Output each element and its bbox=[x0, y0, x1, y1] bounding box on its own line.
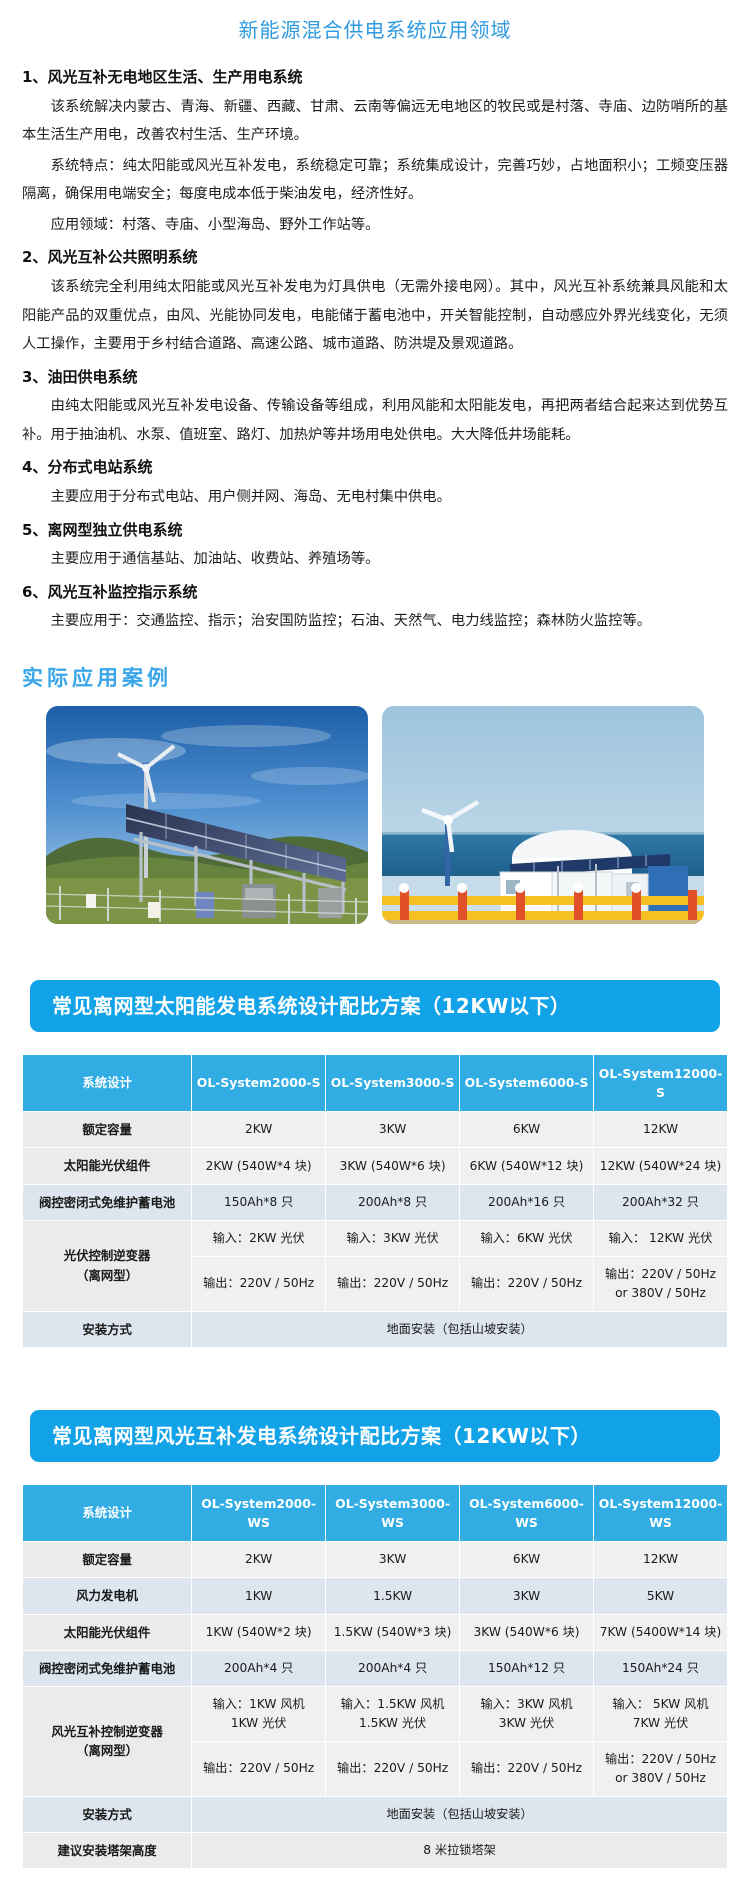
table1-header-row: 系统设计 OL-System2000-S OL-System3000-S OL-… bbox=[23, 1054, 728, 1111]
section-title-4: 分布式电站系统 bbox=[47, 458, 152, 476]
table1-row0-val1: 3KW bbox=[326, 1112, 460, 1148]
case-photo-gallery bbox=[0, 706, 750, 924]
section-5-paragraph-1: 主要应用于通信基站、加油站、收费站、养殖场等。 bbox=[22, 545, 728, 574]
table1-inverter-input-2: 输入：6KW 光伏 bbox=[460, 1220, 594, 1256]
table2-tower-value: 8 米拉锁塔架 bbox=[192, 1832, 728, 1868]
table2-head: 系统设计 OL-System2000-WS OL-System3000-WS O… bbox=[23, 1484, 728, 1541]
table1-row0-val0: 2KW bbox=[192, 1112, 326, 1148]
case-section-title: 实际应用案例 bbox=[0, 662, 750, 692]
article-body: 1、风光互补无电地区生活、生产用电系统 该系统解决内蒙古、青海、新疆、西藏、甘肃… bbox=[0, 66, 750, 636]
table1-header-cell-1: OL-System2000-S bbox=[192, 1054, 326, 1111]
table-row: 风力发电机 1KW 1.5KW 3KW 5KW bbox=[23, 1578, 728, 1614]
table1-install-value: 地面安装（包括山坡安装） bbox=[192, 1311, 728, 1347]
table2-row0-val3: 12KW bbox=[594, 1542, 728, 1578]
section-heading-6: 6、风光互补监控指示系统 bbox=[22, 581, 728, 604]
table2-row0-val0: 2KW bbox=[192, 1542, 326, 1578]
table2-row3-label: 阀控密闭式免维护蓄电池 bbox=[23, 1650, 192, 1686]
table-row: 太阳能光伏组件 1KW (540W*2 块) 1.5KW (540W*3 块) … bbox=[23, 1614, 728, 1650]
section-heading-2: 2、风光互补公共照明系统 bbox=[22, 246, 728, 269]
section-4-paragraph-1: 主要应用于分布式电站、用户侧并网、海岛、无电村集中供电。 bbox=[22, 483, 728, 512]
table1-header-cell-0: 系统设计 bbox=[23, 1054, 192, 1111]
table2-inverter-input-3: 输入： 5KW 风机 7KW 光伏 bbox=[594, 1687, 728, 1742]
section-title-5: 离网型独立供电系统 bbox=[47, 521, 182, 539]
table1-row2-val2: 200Ah*16 只 bbox=[460, 1184, 594, 1220]
table1-install-label: 安装方式 bbox=[23, 1311, 192, 1347]
table-row: 安装方式 地面安装（包括山坡安装） bbox=[23, 1796, 728, 1832]
table2-row2-label: 太阳能光伏组件 bbox=[23, 1614, 192, 1650]
table1-row0-label: 额定容量 bbox=[23, 1112, 192, 1148]
table1-head: 系统设计 OL-System2000-S OL-System3000-S OL-… bbox=[23, 1054, 728, 1111]
table1-banner-wrap: 常见离网型太阳能发电系统设计配比方案（12KW以下） bbox=[0, 980, 750, 1032]
table-row: 额定容量 2KW 3KW 6KW 12KW bbox=[23, 1112, 728, 1148]
table2-row3-val1: 200Ah*4 只 bbox=[326, 1650, 460, 1686]
section-title-2: 风光互补公共照明系统 bbox=[47, 248, 197, 266]
table1-row2-val0: 150Ah*8 只 bbox=[192, 1184, 326, 1220]
table2-row0-val1: 3KW bbox=[326, 1542, 460, 1578]
table-row: 风光互补控制逆变器 （离网型） 输入：1KW 风机 1KW 光伏 输入：1.5K… bbox=[23, 1687, 728, 1742]
seaside-station-illustration bbox=[382, 706, 704, 924]
section-1-paragraph-1: 该系统解决内蒙古、青海、新疆、西藏、甘肃、云南等偏远无电地区的牧民或是村落、寺庙… bbox=[22, 93, 728, 150]
table2-wrap: 系统设计 OL-System2000-WS OL-System3000-WS O… bbox=[0, 1484, 750, 1869]
section-number-1: 1、 bbox=[22, 68, 47, 86]
table1-row0-val3: 12KW bbox=[594, 1112, 728, 1148]
table2-inverter-output-1: 输出：220V / 50Hz bbox=[326, 1741, 460, 1796]
table2-row0-label: 额定容量 bbox=[23, 1542, 192, 1578]
table-row: 额定容量 2KW 3KW 6KW 12KW bbox=[23, 1542, 728, 1578]
table2-header-cell-1: OL-System2000-WS bbox=[192, 1484, 326, 1541]
table2-row2-val2: 3KW (540W*6 块) bbox=[460, 1614, 594, 1650]
section-heading-1: 1、风光互补无电地区生活、生产用电系统 bbox=[22, 66, 728, 89]
section-heading-3: 3、油田供电系统 bbox=[22, 366, 728, 389]
table-row: 建议安装塔架高度 8 米拉锁塔架 bbox=[23, 1832, 728, 1868]
table1-row0-val2: 6KW bbox=[460, 1112, 594, 1148]
section-6-paragraph-1: 主要应用于：交通监控、指示；治安国防监控；石油、天然气、电力线监控；森林防火监控… bbox=[22, 607, 728, 636]
table2-inverter-label: 风光互补控制逆变器 （离网型） bbox=[23, 1687, 192, 1797]
table2-tower-label: 建议安装塔架高度 bbox=[23, 1832, 192, 1868]
table2-body: 额定容量 2KW 3KW 6KW 12KW 风力发电机 1KW 1.5KW 3K… bbox=[23, 1542, 728, 1869]
table1-row2-val1: 200Ah*8 只 bbox=[326, 1184, 460, 1220]
page-title: 新能源混合供电系统应用领域 bbox=[0, 0, 750, 59]
table2-header-cell-4: OL-System12000-WS bbox=[594, 1484, 728, 1541]
table2-inverter-input-0: 输入：1KW 风机 1KW 光伏 bbox=[192, 1687, 326, 1742]
table2-row3-val3: 150Ah*24 只 bbox=[594, 1650, 728, 1686]
table1-row1-val3: 12KW (540W*24 块) bbox=[594, 1148, 728, 1184]
table1-row1-label: 太阳能光伏组件 bbox=[23, 1148, 192, 1184]
table1-banner: 常见离网型太阳能发电系统设计配比方案（12KW以下） bbox=[30, 980, 720, 1032]
table2-banner: 常见离网型风光互补发电系统设计配比方案（12KW以下） bbox=[30, 1410, 720, 1462]
table2-inverter-input-2: 输入：3KW 风机 3KW 光伏 bbox=[460, 1687, 594, 1742]
table1-inverter-input-0: 输入：2KW 光伏 bbox=[192, 1220, 326, 1256]
table2-row3-val2: 150Ah*12 只 bbox=[460, 1650, 594, 1686]
table1-header-cell-3: OL-System6000-S bbox=[460, 1054, 594, 1111]
table1-inverter-output-2: 输出：220V / 50Hz bbox=[460, 1256, 594, 1311]
table-row: 阀控密闭式免维护蓄电池 150Ah*8 只 200Ah*8 只 200Ah*16… bbox=[23, 1184, 728, 1220]
table1-inverter-label-line2: （离网型） bbox=[26, 1266, 188, 1285]
table2-header-row: 系统设计 OL-System2000-WS OL-System3000-WS O… bbox=[23, 1484, 728, 1541]
table2-inverter-input-1: 输入：1.5KW 风机 1.5KW 光伏 bbox=[326, 1687, 460, 1742]
table1-inverter-output-1: 输出：220V / 50Hz bbox=[326, 1256, 460, 1311]
table2-inverter-output-0: 输出：220V / 50Hz bbox=[192, 1741, 326, 1796]
table2-row2-val1: 1.5KW (540W*3 块) bbox=[326, 1614, 460, 1650]
section-number-2: 2、 bbox=[22, 248, 47, 266]
table2-row1-val2: 3KW bbox=[460, 1578, 594, 1614]
solar-array-grassland-illustration bbox=[46, 706, 368, 924]
section-3-paragraph-1: 由纯太阳能或风光互补发电设备、传输设备等组成，利用风能和太阳能发电，再把两者结合… bbox=[22, 392, 728, 449]
section-number-6: 6、 bbox=[22, 583, 47, 601]
table1-inverter-input-1: 输入：3KW 光伏 bbox=[326, 1220, 460, 1256]
table2-install-label: 安装方式 bbox=[23, 1796, 192, 1832]
table2-inverter-label-line1: 风光互补控制逆变器 bbox=[26, 1722, 188, 1741]
table2-row2-val3: 7KW (5400W*14 块) bbox=[594, 1614, 728, 1650]
photo-solar-array-grassland bbox=[46, 706, 368, 924]
table2-inverter-output-3: 输出：220V / 50Hz or 380V / 50Hz bbox=[594, 1741, 728, 1796]
table1-row1-val2: 6KW (540W*12 块) bbox=[460, 1148, 594, 1184]
table1-row2-label: 阀控密闭式免维护蓄电池 bbox=[23, 1184, 192, 1220]
table1-inverter-output-3: 输出：220V / 50Hz or 380V / 50Hz bbox=[594, 1256, 728, 1311]
table2-row1-label: 风力发电机 bbox=[23, 1578, 192, 1614]
table2-row2-val0: 1KW (540W*2 块) bbox=[192, 1614, 326, 1650]
table1-row2-val3: 200Ah*32 只 bbox=[594, 1184, 728, 1220]
table-row: 安装方式 地面安装（包括山坡安装） bbox=[23, 1311, 728, 1347]
table1-inverter-label-line1: 光伏控制逆变器 bbox=[26, 1246, 188, 1265]
table2-row1-val3: 5KW bbox=[594, 1578, 728, 1614]
table2-row1-val1: 1.5KW bbox=[326, 1578, 460, 1614]
table2-header-cell-0: 系统设计 bbox=[23, 1484, 192, 1541]
table1-inverter-output-0: 输出：220V / 50Hz bbox=[192, 1256, 326, 1311]
table2-inverter-label-line2: （离网型） bbox=[26, 1741, 188, 1760]
solar-spec-table: 系统设计 OL-System2000-S OL-System3000-S OL-… bbox=[22, 1054, 728, 1348]
table2-row1-val0: 1KW bbox=[192, 1578, 326, 1614]
section-1-paragraph-3: 应用领域：村落、寺庙、小型海岛、野外工作站等。 bbox=[22, 211, 728, 240]
section-number-3: 3、 bbox=[22, 368, 47, 386]
table1-inverter-label: 光伏控制逆变器 （离网型） bbox=[23, 1220, 192, 1311]
table2-header-cell-2: OL-System3000-WS bbox=[326, 1484, 460, 1541]
section-2-paragraph-1: 该系统完全利用纯太阳能或风光互补发电为灯具供电（无需外接电网）。其中，风光互补系… bbox=[22, 273, 728, 359]
section-heading-4: 4、分布式电站系统 bbox=[22, 456, 728, 479]
table1-row1-val0: 2KW (540W*4 块) bbox=[192, 1148, 326, 1184]
table1-body: 额定容量 2KW 3KW 6KW 12KW 太阳能光伏组件 2KW (540W*… bbox=[23, 1112, 728, 1348]
table1-row1-val1: 3KW (540W*6 块) bbox=[326, 1148, 460, 1184]
section-title-1: 风光互补无电地区生活、生产用电系统 bbox=[47, 68, 302, 86]
table1-wrap: 系统设计 OL-System2000-S OL-System3000-S OL-… bbox=[0, 1054, 750, 1348]
table1-header-cell-2: OL-System3000-S bbox=[326, 1054, 460, 1111]
section-1-paragraph-2: 系统特点：纯太阳能或风光互补发电，系统稳定可靠；系统集成设计，完善巧妙，占地面积… bbox=[22, 152, 728, 209]
table2-inverter-output-2: 输出：220V / 50Hz bbox=[460, 1741, 594, 1796]
table-row: 光伏控制逆变器 （离网型） 输入：2KW 光伏 输入：3KW 光伏 输入：6KW… bbox=[23, 1220, 728, 1256]
table2-row3-val0: 200Ah*4 只 bbox=[192, 1650, 326, 1686]
wind-solar-spec-table: 系统设计 OL-System2000-WS OL-System3000-WS O… bbox=[22, 1484, 728, 1869]
page-root: 新能源混合供电系统应用领域 1、风光互补无电地区生活、生产用电系统 该系统解决内… bbox=[0, 0, 750, 1879]
table1-header-cell-4: OL-System12000-S bbox=[594, 1054, 728, 1111]
photo-seaside-station bbox=[382, 706, 704, 924]
table2-header-cell-3: OL-System6000-WS bbox=[460, 1484, 594, 1541]
section-title-3: 油田供电系统 bbox=[47, 368, 137, 386]
table-row: 阀控密闭式免维护蓄电池 200Ah*4 只 200Ah*4 只 150Ah*12… bbox=[23, 1650, 728, 1686]
section-number-5: 5、 bbox=[22, 521, 47, 539]
table-row: 太阳能光伏组件 2KW (540W*4 块) 3KW (540W*6 块) 6K… bbox=[23, 1148, 728, 1184]
section-title-6: 风光互补监控指示系统 bbox=[47, 583, 197, 601]
table2-row0-val2: 6KW bbox=[460, 1542, 594, 1578]
table1-inverter-input-3: 输入： 12KW 光伏 bbox=[594, 1220, 728, 1256]
table2-install-value: 地面安装（包括山坡安装） bbox=[192, 1796, 728, 1832]
section-number-4: 4、 bbox=[22, 458, 47, 476]
section-heading-5: 5、离网型独立供电系统 bbox=[22, 519, 728, 542]
table2-banner-wrap: 常见离网型风光互补发电系统设计配比方案（12KW以下） bbox=[0, 1410, 750, 1462]
